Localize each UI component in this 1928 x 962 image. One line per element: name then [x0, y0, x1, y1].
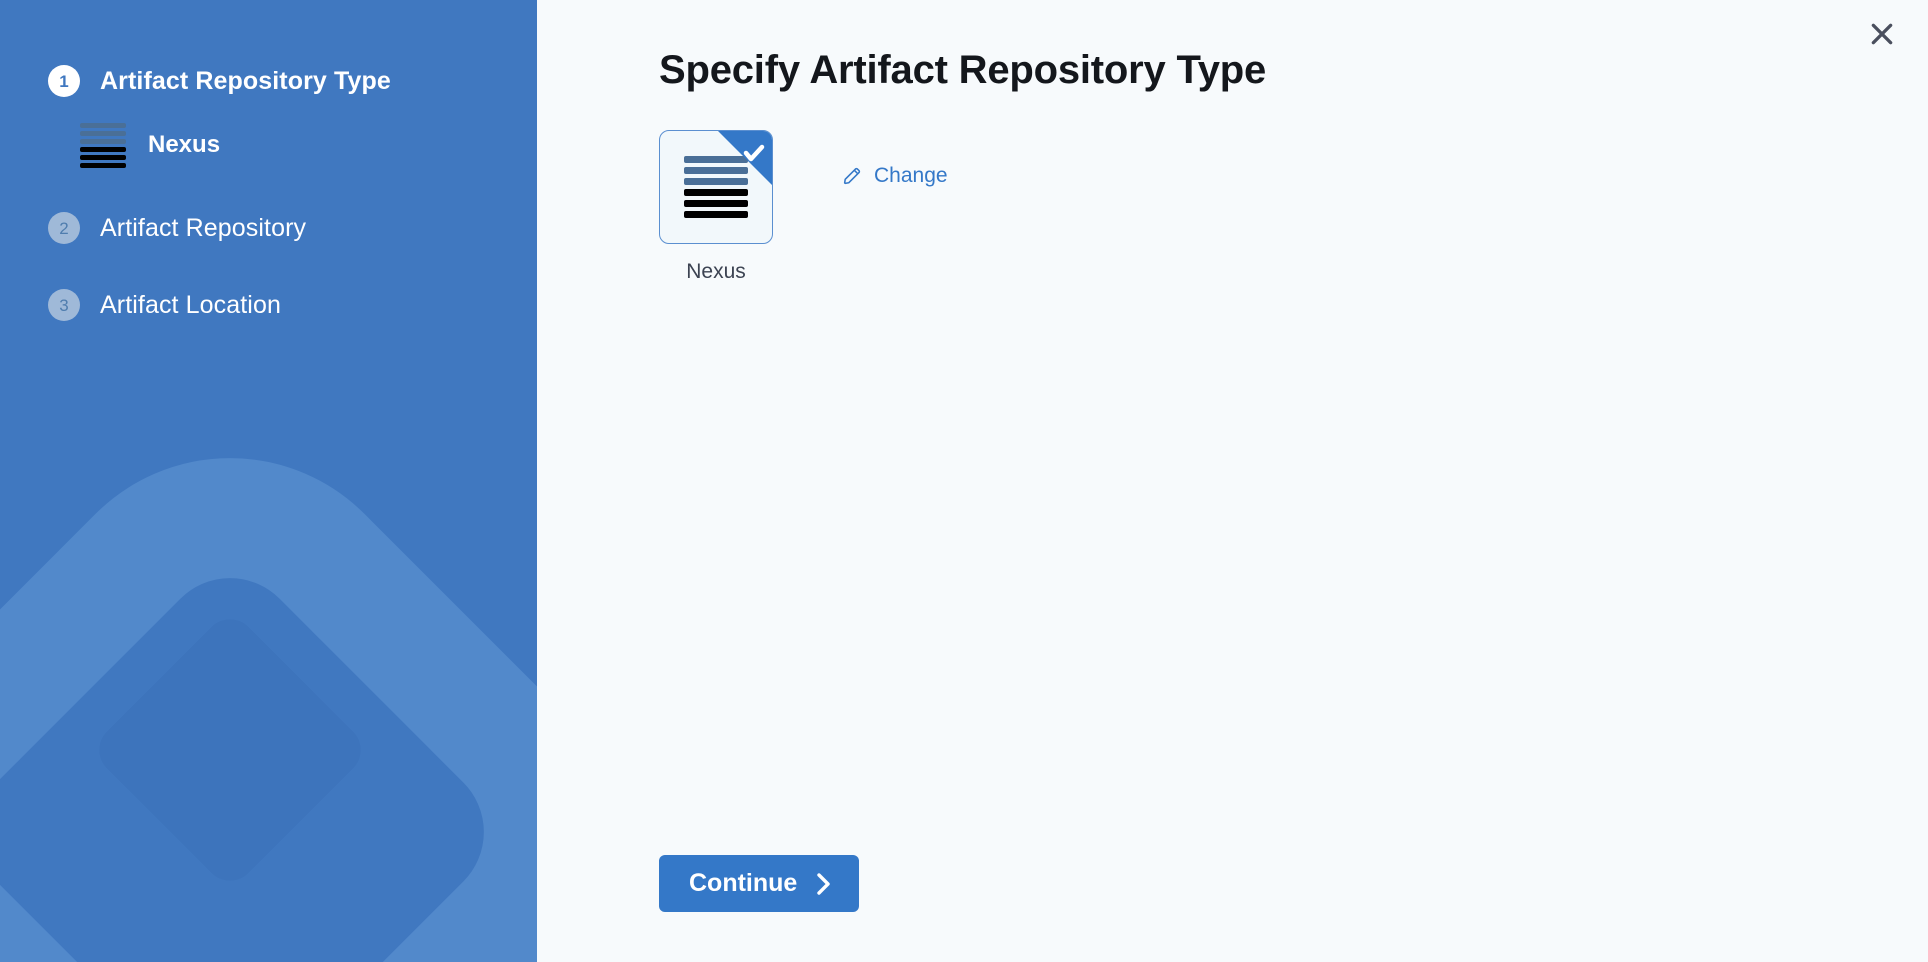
step-number-badge-3: 3 — [48, 289, 80, 321]
chevron-right-icon — [815, 871, 833, 897]
repository-type-selection: Nexus Change — [659, 130, 948, 284]
sidebar-substep-nexus[interactable]: Nexus — [0, 115, 537, 175]
step-number-badge-2: 2 — [48, 212, 80, 244]
sidebar-substep-label: Nexus — [148, 131, 220, 159]
continue-button[interactable]: Continue — [659, 855, 859, 912]
sidebar-step-artifact-repository[interactable]: 2 Artifact Repository — [0, 202, 537, 254]
continue-button-label: Continue — [689, 869, 797, 898]
wizard-main-panel: Specify Artifact Repository Type Nexus — [537, 0, 1928, 962]
wizard-step-list: 1 Artifact Repository Type Nexus 2 Artif… — [0, 0, 537, 331]
step-label-1: Artifact Repository Type — [100, 67, 391, 96]
selected-corner-badge — [718, 131, 772, 185]
page-title: Specify Artifact Repository Type — [659, 48, 1266, 93]
rotated-rounded-square-watermark — [0, 452, 537, 962]
close-button[interactable] — [1860, 12, 1904, 56]
sidebar-step-artifact-location[interactable]: 3 Artifact Location — [0, 279, 537, 331]
wizard-sidebar: 1 Artifact Repository Type Nexus 2 Artif… — [0, 0, 537, 962]
sidebar-step-artifact-repository-type[interactable]: 1 Artifact Repository Type — [0, 55, 537, 107]
close-icon — [1869, 21, 1895, 47]
choice-caption: Nexus — [686, 260, 746, 284]
step-label-2: Artifact Repository — [100, 214, 306, 243]
pencil-icon — [841, 165, 863, 187]
nexus-選-card[interactable] — [659, 130, 773, 244]
step-number-badge-1: 1 — [48, 65, 80, 97]
nexus-logo-icon — [80, 123, 126, 168]
step-label-3: Artifact Location — [100, 291, 281, 320]
repository-type-choice-nexus: Nexus — [659, 130, 773, 284]
change-link-label: Change — [874, 164, 948, 188]
change-link[interactable]: Change — [841, 164, 948, 188]
